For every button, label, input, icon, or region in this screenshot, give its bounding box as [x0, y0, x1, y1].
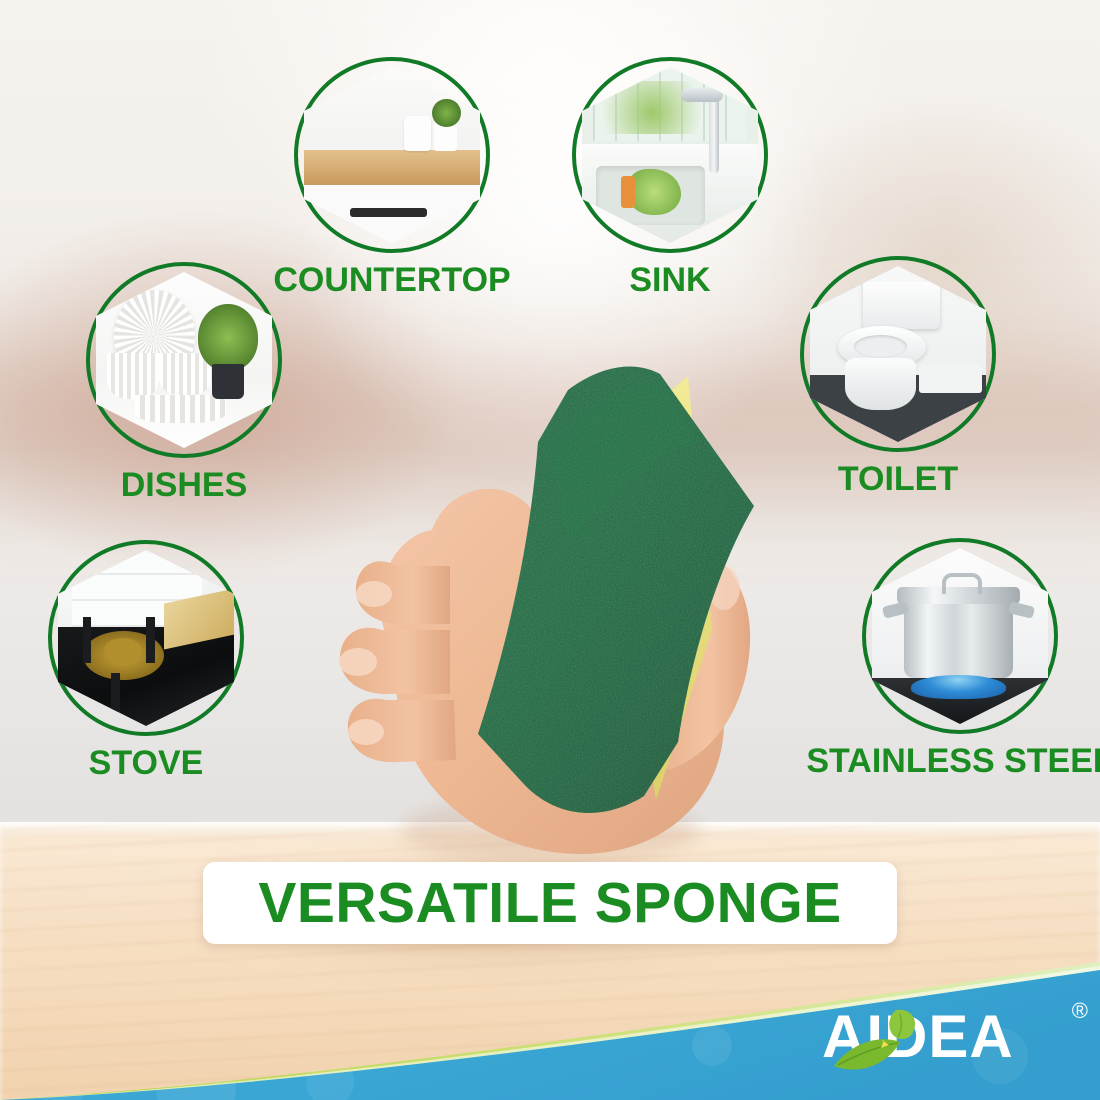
- stainless-steel-photo: [872, 548, 1048, 724]
- fingernail-index: [356, 581, 392, 607]
- brand-wordmark: AIDEA: [822, 1004, 1014, 1070]
- badge-label-dishes: DISHES: [121, 466, 248, 505]
- bubble-decoration: [692, 1026, 732, 1066]
- badge-label-stove: STOVE: [89, 744, 204, 783]
- toilet-photo: [810, 266, 986, 442]
- bubble-decoration: [306, 1058, 354, 1100]
- headline-plaque: VERSATILE SPONGE: [203, 862, 897, 944]
- sink-photo: [582, 67, 758, 243]
- hand-holding-sponge: [300, 330, 800, 870]
- badge-ring-dishes: [86, 262, 282, 458]
- bubble-decoration: [30, 1048, 90, 1100]
- product-infographic: COUNTERTOPSINKDISHESTOILETSTOVESTAINLESS…: [0, 0, 1100, 1100]
- dishes-photo: [96, 272, 272, 448]
- fingernail-middle: [339, 648, 377, 676]
- countertop-photo: [304, 67, 480, 243]
- badge-label-countertop: COUNTERTOP: [273, 261, 510, 300]
- page-title: VERSATILE SPONGE: [258, 870, 841, 936]
- feature-badge-stainless-steel[interactable]: STAINLESS STEEL: [862, 538, 1058, 781]
- fingernail-ring: [348, 719, 384, 745]
- bubble-decoration: [156, 1048, 236, 1100]
- brand-logo[interactable]: AIDEA ®: [822, 1004, 1090, 1076]
- stove-photo: [58, 550, 234, 726]
- badge-ring-countertop: [294, 57, 490, 253]
- badge-ring-stainless-steel: [862, 538, 1058, 734]
- badge-label-toilet: TOILET: [838, 460, 958, 499]
- feature-badge-dishes[interactable]: DISHES: [86, 262, 282, 505]
- badge-label-stainless-steel: STAINLESS STEEL: [806, 742, 1100, 781]
- badge-ring-sink: [572, 57, 768, 253]
- badge-ring-toilet: [800, 256, 996, 452]
- badge-label-sink: SINK: [629, 261, 710, 300]
- feature-badge-countertop[interactable]: COUNTERTOP: [294, 57, 490, 300]
- hand-sponge-illustration: [300, 330, 800, 870]
- feature-badge-sink[interactable]: SINK: [572, 57, 768, 300]
- badge-ring-stove: [48, 540, 244, 736]
- registered-trademark-symbol: ®: [1072, 1000, 1088, 1022]
- feature-badge-stove[interactable]: STOVE: [48, 540, 244, 783]
- feature-badge-toilet[interactable]: TOILET: [800, 256, 996, 499]
